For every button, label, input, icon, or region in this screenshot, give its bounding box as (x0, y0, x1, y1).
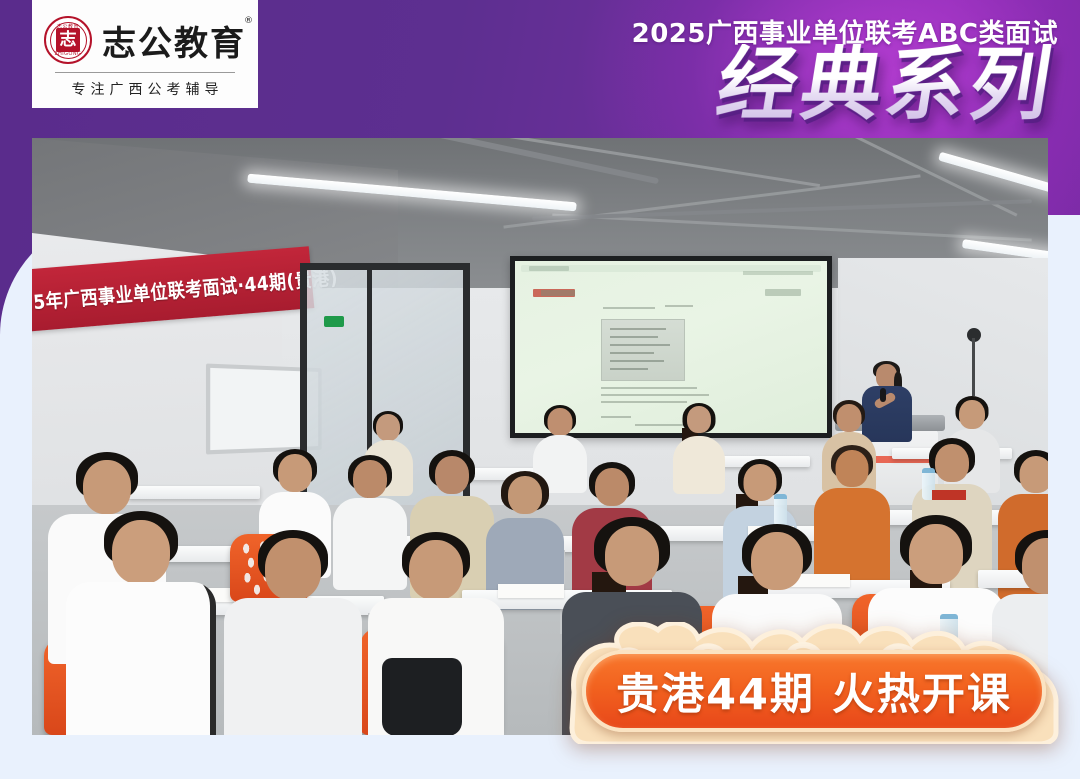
promotional-poster: 志公教育 志 ZHIGONG 志公教育 ® 专注广西公考辅导 2025广西事业单… (0, 0, 1080, 779)
seal-character: 志 (56, 28, 80, 52)
student-head (935, 444, 969, 482)
student-head (83, 460, 131, 514)
student-head (836, 450, 869, 487)
water-bottle (774, 494, 787, 526)
student-head (837, 404, 862, 432)
page-title: 经典系列 (712, 44, 1061, 126)
brand-name: 志公教育 ® (102, 16, 246, 65)
brand-tagline: 专注广西公考辅导 (67, 79, 224, 99)
student-head (435, 456, 469, 494)
student-head (548, 408, 573, 436)
student-head (353, 460, 387, 498)
student-head (278, 454, 312, 492)
student-head (595, 468, 629, 506)
exit-sign-icon (324, 316, 344, 327)
student-head (959, 400, 985, 429)
screen-toolbar-meta (743, 271, 813, 275)
brand-logo-box: 志公教育 志 ZHIGONG 志公教育 ® 专注广西公考辅导 (32, 0, 258, 108)
student-head (744, 464, 777, 501)
screen-text-line (603, 307, 655, 309)
screen-logo (765, 289, 801, 296)
screen-browser-tab (529, 266, 569, 271)
student-head (409, 540, 463, 600)
backpack (382, 658, 462, 735)
student-head (751, 532, 803, 590)
student-body (224, 598, 362, 735)
screen-heading-text (541, 290, 575, 296)
student-head (687, 406, 711, 433)
registered-mark-icon: ® (244, 16, 255, 26)
student-body (66, 582, 216, 735)
logo-divider (55, 72, 235, 73)
red-book (932, 490, 966, 500)
badge-text: 贵港44期 火热开课 (616, 660, 1012, 722)
student-head (265, 538, 321, 600)
screen-text-line (601, 416, 631, 418)
red-circular-seal-icon: 志公教育 志 ZHIGONG (44, 16, 92, 64)
student-head (909, 524, 963, 584)
student-head (508, 476, 542, 514)
banner-text: 2025年广西事业单位联考面试·44期(贵港) (32, 261, 339, 318)
student-body (673, 436, 725, 494)
screen-text-line (601, 401, 687, 403)
student-head (605, 526, 659, 586)
course-badge: 贵港44期 火热开课 (566, 622, 1062, 744)
logo-row: 志公教育 志 ZHIGONG 志公教育 ® (44, 16, 246, 65)
screen-document-image (601, 319, 685, 381)
brand-name-text: 志公教育 (102, 24, 246, 64)
microphone-icon (880, 388, 886, 402)
paper-sheet (498, 584, 564, 598)
student-foreground (66, 520, 216, 735)
fan-pole (972, 338, 975, 396)
badge-pill: 贵港44期 火热开课 (582, 650, 1046, 732)
student (672, 406, 726, 492)
screen-text-line (665, 305, 693, 307)
student-head (112, 520, 170, 584)
seal-arc-bottom-text: ZHIGONG (46, 51, 90, 57)
screen-text-line (601, 394, 709, 396)
student-head (376, 414, 400, 441)
student-head (1020, 456, 1049, 493)
screen-text-line (601, 387, 697, 389)
student-foreground (224, 538, 362, 735)
